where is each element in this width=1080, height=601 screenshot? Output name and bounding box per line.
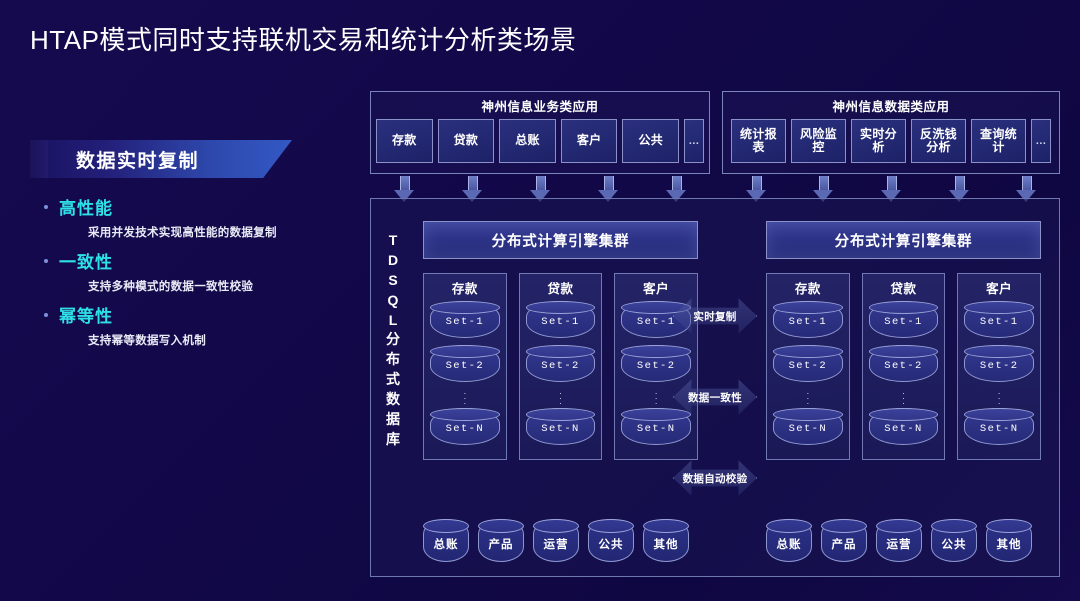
db-cylinder-label: 总账 <box>777 536 802 552</box>
db-set-cylinder[interactable]: Set-1 <box>964 301 1034 338</box>
db-set-cylinder[interactable]: Set-1 <box>430 301 500 338</box>
db-set-label: Set-1 <box>884 316 923 328</box>
sync-arrow-data-consistency: 数据一致性 <box>673 376 757 418</box>
cluster-right: 分布式计算引擎集群 存款 Set-1 Set-2 ... Set-N 贷款 Se… <box>766 221 1041 460</box>
app-chip[interactable]: 总账 <box>499 119 556 163</box>
feature-heading: 一致性 <box>44 248 360 273</box>
feature-heading: 幂等性 <box>44 302 360 327</box>
app-chip-list: 统计报表 风险监控 实时分析 反洗钱分析 查询统计 … <box>728 119 1054 163</box>
set-column: 客户 Set-1 Set-2 ... Set-N <box>957 273 1041 460</box>
tdsql-label-char: S <box>379 271 407 291</box>
set-column-list: 存款 Set-1 Set-2 ... Set-N 贷款 Set-1 Set-2 … <box>423 273 698 460</box>
app-chip[interactable]: 风险监控 <box>791 119 846 163</box>
db-set-label: Set-2 <box>541 360 580 372</box>
db-set-cylinder[interactable]: Set-2 <box>964 345 1034 382</box>
app-chip[interactable]: 客户 <box>561 119 618 163</box>
sync-arrow-realtime-replication: 实时复制 <box>673 295 757 337</box>
db-set-label: Set-N <box>637 423 676 435</box>
app-group-title: 神州信息业务类应用 <box>376 96 704 115</box>
db-set-label: Set-1 <box>446 316 485 328</box>
set-column-title: 贷款 <box>869 278 939 297</box>
set-column-title: 客户 <box>964 278 1034 297</box>
tdsql-label-char: T <box>379 231 407 251</box>
db-cylinder-label: 公共 <box>942 536 967 552</box>
sync-arrow-label: 实时复制 <box>673 295 757 337</box>
page-title: HTAP模式同时支持联机交易和统计分析类场景 <box>30 20 576 57</box>
db-set-cylinder[interactable]: Set-N <box>964 408 1034 445</box>
sync-arrow-auto-verification: 数据自动校验 <box>673 457 757 499</box>
db-set-label: Set-N <box>446 423 485 435</box>
set-column-title: 存款 <box>430 278 500 297</box>
db-set-label: Set-2 <box>637 360 676 372</box>
db-set-label: Set-2 <box>446 360 485 372</box>
db-set-label: Set-N <box>980 423 1019 435</box>
sync-arrow-label: 数据自动校验 <box>673 457 757 499</box>
db-set-label: Set-2 <box>789 360 828 372</box>
sync-arrow-label: 数据一致性 <box>673 376 757 418</box>
ellipsis-vertical-icon: ... <box>964 389 1034 404</box>
feature-description: 采用并发技术实现高性能的数据复制 <box>88 224 360 240</box>
db-set-cylinder[interactable]: Set-2 <box>869 345 939 382</box>
db-set-cylinder[interactable]: Set-N <box>430 408 500 445</box>
db-set-label: Set-1 <box>637 316 676 328</box>
app-chip[interactable]: 查询统计 <box>971 119 1026 163</box>
db-set-label: Set-N <box>884 423 923 435</box>
db-set-cylinder[interactable]: Set-1 <box>526 301 596 338</box>
app-group-data: 神州信息数据类应用 统计报表 风险监控 实时分析 反洗钱分析 查询统计 … <box>722 91 1060 174</box>
app-chip[interactable]: 统计报表 <box>731 119 786 163</box>
ellipsis-vertical-icon: ... <box>773 389 843 404</box>
app-chip-more[interactable]: … <box>684 119 704 163</box>
bullet-icon <box>44 313 48 317</box>
app-group-business: 神州信息业务类应用 存款 贷款 总账 客户 公共 … <box>370 91 710 174</box>
feature-description: 支持多种模式的数据一致性校验 <box>88 278 360 294</box>
compute-engine-bar[interactable]: 分布式计算引擎集群 <box>423 221 698 259</box>
section-banner-label: 数据实时复制 <box>76 146 199 173</box>
bullet-icon <box>44 259 48 263</box>
cluster-left: 分布式计算引擎集群 存款 Set-1 Set-2 ... Set-N 贷款 Se… <box>423 221 698 460</box>
app-chip[interactable]: 公共 <box>622 119 679 163</box>
db-set-label: Set-1 <box>541 316 580 328</box>
tdsql-label-char: Q <box>379 291 407 311</box>
ellipsis-vertical-icon: ... <box>430 389 500 404</box>
set-column-list: 存款 Set-1 Set-2 ... Set-N 贷款 Set-1 Set-2 … <box>766 273 1041 460</box>
db-cylinder[interactable]: 总账 <box>766 519 812 562</box>
bullet-icon <box>44 205 48 209</box>
feature-title: 高性能 <box>59 194 113 219</box>
db-cylinder-label: 公共 <box>599 536 624 552</box>
banner-left-bar <box>30 140 48 178</box>
bottom-cylinder-row-left: 总账 产品 运营 公共 其他 <box>423 519 689 562</box>
set-column: 贷款 Set-1 Set-2 ... Set-N <box>862 273 946 460</box>
ellipsis-vertical-icon: ... <box>869 389 939 404</box>
db-cylinder[interactable]: 公共 <box>931 519 977 562</box>
db-cylinder[interactable]: 运营 <box>876 519 922 562</box>
db-set-cylinder[interactable]: Set-1 <box>869 301 939 338</box>
db-cylinder-label: 运营 <box>544 536 569 552</box>
tdsql-vertical-label: T D S Q L 分 布 式 数 据 库 <box>379 231 407 450</box>
db-cylinder[interactable]: 产品 <box>478 519 524 562</box>
db-set-label: Set-2 <box>884 360 923 372</box>
set-column: 贷款 Set-1 Set-2 ... Set-N <box>519 273 603 460</box>
db-cylinder-label: 其他 <box>997 536 1022 552</box>
db-set-cylinder[interactable]: Set-N <box>526 408 596 445</box>
set-column: 存款 Set-1 Set-2 ... Set-N <box>766 273 850 460</box>
db-cylinder[interactable]: 其他 <box>986 519 1032 562</box>
feature-description: 支持幂等数据写入机制 <box>88 332 360 348</box>
feature-heading: 高性能 <box>44 194 360 219</box>
db-set-label: Set-1 <box>980 316 1019 328</box>
set-column-title: 存款 <box>773 278 843 297</box>
db-cylinder[interactable]: 公共 <box>588 519 634 562</box>
left-info-panel: 数据实时复制 高性能 采用并发技术实现高性能的数据复制 一致性 支持多种模式的数… <box>30 140 360 356</box>
tdsql-label-char: D <box>379 251 407 271</box>
app-chip-more[interactable]: … <box>1031 119 1051 163</box>
tdsql-label-char: 数 <box>379 390 407 410</box>
db-set-cylinder[interactable]: Set-2 <box>773 345 843 382</box>
app-chip[interactable]: 存款 <box>376 119 433 163</box>
set-column-title: 贷款 <box>526 278 596 297</box>
app-group-title: 神州信息数据类应用 <box>728 96 1054 115</box>
feature-item-1: 一致性 支持多种模式的数据一致性校验 <box>44 248 360 294</box>
tdsql-label-char: 据 <box>379 410 407 430</box>
db-cylinder[interactable]: 运营 <box>533 519 579 562</box>
bottom-cylinder-row-right: 总账 产品 运营 公共 其他 <box>766 519 1032 562</box>
feature-title: 幂等性 <box>59 302 113 327</box>
feature-list: 高性能 采用并发技术实现高性能的数据复制 一致性 支持多种模式的数据一致性校验 … <box>30 194 360 348</box>
ellipsis-vertical-icon: ... <box>526 389 596 404</box>
db-cylinder-label: 运营 <box>887 536 912 552</box>
set-column: 存款 Set-1 Set-2 ... Set-N <box>423 273 507 460</box>
tdsql-label-char: 式 <box>379 370 407 390</box>
db-set-cylinder[interactable]: Set-N <box>773 408 843 445</box>
db-cylinder-label: 产品 <box>489 536 514 552</box>
db-cylinder[interactable]: 产品 <box>821 519 867 562</box>
feature-title: 一致性 <box>59 248 113 273</box>
app-chip[interactable]: 反洗钱分析 <box>911 119 966 163</box>
db-cylinder[interactable]: 总账 <box>423 519 469 562</box>
db-cylinder-label: 总账 <box>434 536 459 552</box>
db-set-cylinder[interactable]: Set-2 <box>526 345 596 382</box>
db-cylinder-label: 其他 <box>654 536 679 552</box>
db-set-cylinder[interactable]: Set-1 <box>773 301 843 338</box>
db-set-label: Set-1 <box>789 316 828 328</box>
tdsql-label-char: 库 <box>379 430 407 450</box>
app-chip-list: 存款 贷款 总账 客户 公共 … <box>376 119 704 163</box>
db-set-label: Set-N <box>789 423 828 435</box>
section-banner: 数据实时复制 <box>30 140 292 178</box>
tdsql-label-char: L <box>379 311 407 331</box>
db-set-label: Set-N <box>541 423 580 435</box>
feature-item-2: 幂等性 支持幂等数据写入机制 <box>44 302 360 348</box>
app-chip[interactable]: 实时分析 <box>851 119 906 163</box>
compute-engine-bar[interactable]: 分布式计算引擎集群 <box>766 221 1041 259</box>
db-set-label: Set-2 <box>980 360 1019 372</box>
db-set-cylinder[interactable]: Set-2 <box>430 345 500 382</box>
db-cylinder[interactable]: 其他 <box>643 519 689 562</box>
db-cylinder-label: 产品 <box>832 536 857 552</box>
tdsql-label-char: 布 <box>379 350 407 370</box>
app-chip[interactable]: 贷款 <box>438 119 495 163</box>
db-set-cylinder[interactable]: Set-N <box>869 408 939 445</box>
feature-item-0: 高性能 采用并发技术实现高性能的数据复制 <box>44 194 360 240</box>
tdsql-label-char: 分 <box>379 330 407 350</box>
tdsql-container: T D S Q L 分 布 式 数 据 库 分布式计算引擎集群 存款 Set-1… <box>370 198 1060 577</box>
